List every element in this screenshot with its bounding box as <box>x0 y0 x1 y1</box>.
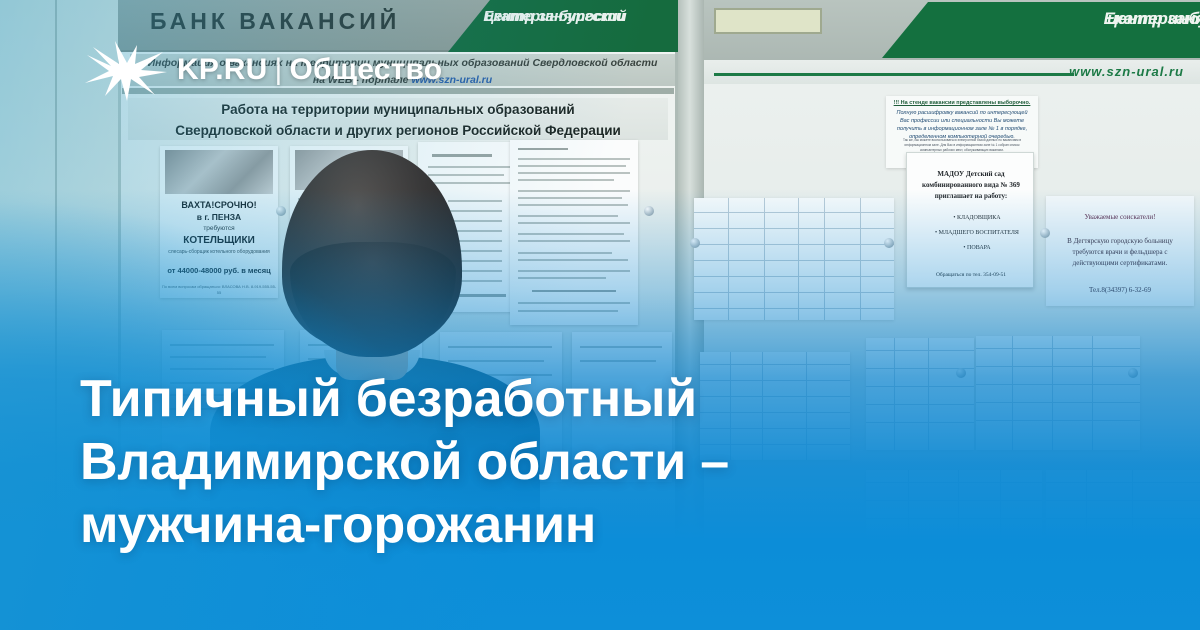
headline-line-1: Типичный безработный <box>80 368 840 431</box>
brand-section: Общество <box>289 53 442 86</box>
brand-lockup[interactable]: KP.RU|Общество <box>85 40 442 100</box>
headline-line-3: мужчина-горожанин <box>80 494 840 557</box>
headline: Типичный безработный Владимирской област… <box>80 368 840 557</box>
brand-name: KP.RU <box>177 53 267 86</box>
kp-swallow-bird-icon <box>85 39 169 101</box>
brand-separator: | <box>267 53 289 86</box>
headline-line-2: Владимирской области – <box>80 431 840 494</box>
social-share-card: БАНК ВАКАНСИЙ Екатеринбургский центр зан… <box>0 0 1200 630</box>
brand-text: KP.RU|Общество <box>177 53 442 87</box>
